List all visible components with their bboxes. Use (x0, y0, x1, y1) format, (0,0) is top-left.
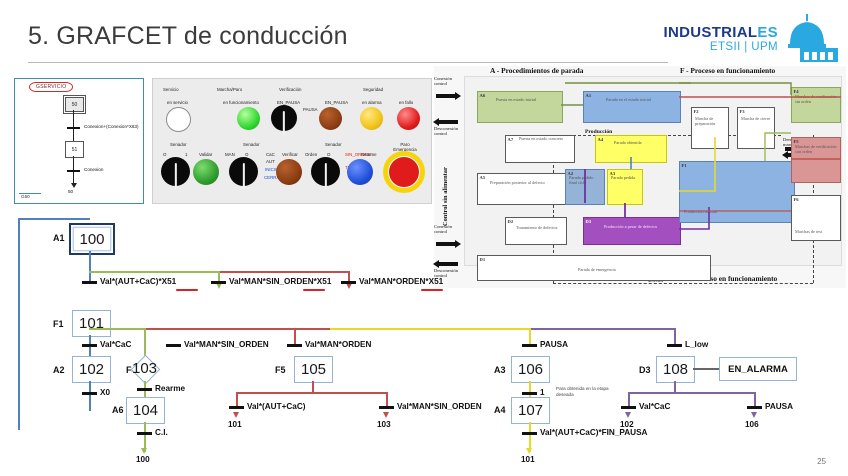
step-label-A6: A6 (112, 405, 124, 415)
transition-bar-100a (82, 281, 97, 284)
selector-orden[interactable] (311, 157, 340, 186)
panel-opt-0-left: O (163, 152, 166, 157)
action-link-108 (693, 368, 719, 370)
redmark-3 (421, 289, 443, 291)
page-title: 5. GRAFCET de conducción (28, 22, 348, 51)
step-label-A3: A3 (494, 365, 506, 375)
grafcet-loop-top (18, 218, 90, 220)
panel-caption-pausa: PAUSA (303, 107, 318, 112)
lamp-en-alarma[interactable] (360, 107, 383, 130)
target-101-b: 101 (521, 455, 535, 464)
target-100: 100 (136, 455, 150, 464)
arrow-108a-icon (625, 412, 631, 418)
panel-caption-en-alarma: en alarma (362, 100, 382, 105)
panel-caption-rearme: Rearme (361, 152, 377, 157)
panel-caption-validar: Validar (199, 152, 212, 157)
logo-name: INDUSTRIALES (664, 24, 778, 41)
dome-icon (780, 14, 838, 64)
step-102[interactable]: 102 (72, 356, 111, 383)
transition-bar-101d (522, 344, 537, 347)
panel-opt-2-right: CaC (266, 152, 275, 157)
transition-label-101a: Val*CaC (100, 340, 131, 349)
step-label-F5: F5 (275, 365, 286, 375)
lamp-verificar[interactable] (276, 159, 302, 185)
transition-bar-105b (379, 406, 394, 409)
gemma-desconexion-1: Desconexión control (434, 126, 464, 136)
step-100[interactable]: 100 (69, 223, 115, 255)
target-103: 103 (377, 420, 391, 429)
transition-bar-108b (747, 406, 762, 409)
bus-101-yellow (330, 328, 530, 330)
step-108[interactable]: 108 (656, 356, 695, 383)
transition-label-105a: Val*(AUT+CaC) (247, 402, 305, 411)
step-101[interactable]: 101 (72, 310, 111, 337)
bus-101-red (145, 328, 330, 330)
transition-bar-101c (287, 344, 302, 347)
transition-label-101e: L_low (685, 340, 708, 349)
transition-bar-108a (621, 406, 636, 409)
step-104[interactable]: 104 (126, 397, 165, 424)
selector-servicio[interactable] (161, 157, 190, 186)
transition-bar-100c (341, 281, 356, 284)
transition-bar-105a (229, 406, 244, 409)
step-107[interactable]: 107 (511, 397, 550, 424)
bus-100-green (89, 271, 219, 273)
arrow-105a-icon (233, 412, 239, 418)
panel-opt-2-left: MAN (225, 152, 235, 157)
target-101-a: 101 (228, 420, 242, 429)
operator-control-panel: Servicio Marcha/Paro Verificación Seguri… (152, 78, 432, 204)
panel-caption-en-funcionamiento: en funcionamiento (223, 100, 259, 105)
panel-opt-4-left: Orden (305, 152, 317, 157)
transition-bar-106 (522, 392, 537, 395)
link-100-101 (89, 251, 91, 283)
arrow-105b-icon (383, 412, 389, 418)
page-number: 25 (817, 457, 826, 466)
bus-100-red (219, 271, 349, 273)
institution-logo: INDUSTRIALES ETSII | UPM (668, 14, 840, 66)
gemma-arrow-out-1 (438, 120, 458, 124)
panel-caption-en-servicio: en servicio (167, 100, 188, 105)
arrow-red-1-icon (346, 283, 352, 289)
bus-108 (629, 392, 755, 394)
bus-101-green (89, 328, 145, 330)
gemma-arrow-in-1 (436, 94, 456, 98)
transition-label-100c: Val*MAN*ORDEN*X51 (359, 277, 443, 286)
step-105[interactable]: 105 (294, 356, 333, 383)
gemma-section-f-top: F - Proceso en funcionamiento (680, 66, 775, 75)
mini-target: 50 (68, 189, 73, 194)
step-label-D3: D3 (639, 365, 651, 375)
transition-bar-100b (211, 281, 226, 284)
panel-caption-verificar: Verificar (282, 152, 298, 157)
lamp-en-funcionamiento[interactable] (237, 107, 260, 130)
lamp-validar[interactable] (193, 159, 219, 185)
transition-bar-103 (137, 388, 152, 391)
bus-101-purple (530, 328, 675, 330)
transition-label-106: 1 (540, 388, 545, 397)
transition-label-100b: Val*MAN*SIN_ORDEN*X51 (229, 277, 331, 286)
mini-footer-label: G50 (21, 194, 30, 199)
lamp-en-pausa[interactable] (319, 107, 342, 130)
step-106[interactable]: 106 (511, 356, 550, 383)
redmark-2 (303, 289, 325, 291)
title-divider (28, 62, 668, 63)
transition-label-101c: Val*MAN*ORDEN (305, 340, 371, 349)
main-grafcet-diagram: A1 100 Val*(AUT+CaC)*X51 Val*MAN*SIN_ORD… (0, 210, 848, 472)
panel-opt-2-r2: AUT (266, 159, 275, 164)
step-label-F1: F1 (53, 319, 64, 329)
lamp-rearme[interactable] (347, 159, 373, 185)
transition-bar-101a (82, 344, 97, 347)
panel-caption-senador-2: Senador (243, 142, 260, 147)
panel-group-marchaparo: Marcha/Paro (217, 87, 242, 92)
panel-group-seguridad: Seguridad (363, 87, 383, 92)
transition-label-102: X0 (100, 388, 110, 397)
panel-caption-senador-3: Senador (325, 142, 342, 147)
link-102-x0 (89, 381, 91, 411)
transition-label-108b: PAUSA (765, 402, 793, 411)
transition-label-105b: Val*MAN*SIN_ORDEN (397, 402, 482, 411)
transition-bar-101b (166, 344, 181, 347)
transition-label-101b: Val*MAN*SIN_ORDEN (184, 340, 269, 349)
panel-caption-senador-1: Senador (170, 142, 187, 147)
transition-label-107: Val*(AUT+CaC)*FIN_PAUSA (540, 428, 647, 437)
panel-caption-en-pausa-lamp: EN_PAUSA (325, 100, 348, 105)
transition-label-103: Rearme (155, 384, 185, 393)
transition-label-108a: Val*CaC (639, 402, 670, 411)
arrow-108b-icon (751, 412, 757, 418)
transition-bar-104 (137, 432, 152, 435)
arrow-104-icon (141, 448, 147, 454)
panel-group-verificacion: Verificación (279, 87, 301, 92)
arrow-107-icon (526, 448, 532, 454)
step-label-A1: A1 (53, 233, 65, 243)
mini-transition-label-2: Conexion (84, 167, 103, 172)
gemma-section-a: A - Procedimientos de parada (490, 66, 583, 75)
step-label-A4: A4 (494, 405, 506, 415)
bus-105 (237, 392, 387, 394)
selector-en-pausa[interactable] (271, 105, 297, 131)
transition-bar-107 (522, 432, 537, 435)
lamp-en-servicio[interactable] (166, 107, 191, 132)
redmark-1 (176, 289, 198, 291)
grafcet-note: Para obtenida en la etapa deseada (556, 386, 614, 397)
step-103[interactable]: 103 (126, 356, 163, 381)
mini-step-initial: 50 (65, 97, 84, 112)
mini-grafcet-label: GSERVICIO (29, 82, 73, 92)
emergency-stop-button[interactable] (383, 151, 425, 193)
panel-group-servicio: Servicio (163, 87, 179, 92)
transition-label-101d: PAUSA (540, 340, 568, 349)
mini-transition-label-1: Conexion+(Conexion*X63) (84, 124, 139, 129)
logo-subtitle: ETSII | UPM (710, 41, 778, 53)
action-box-en-alarma[interactable]: EN_ALARMA (719, 357, 797, 381)
transition-bar-102 (82, 392, 97, 395)
mini-grafcet-diagram: GSERVICIO 50 Conexion+(Conexion*X63) 51 … (14, 78, 144, 204)
target-106: 106 (745, 420, 759, 429)
transition-label-100a: Val*(AUT+CaC)*X51 (100, 277, 176, 286)
mini-step-second: 51 (65, 141, 84, 158)
step-label-A2: A2 (53, 365, 65, 375)
panel-opt-0-right: 1 (185, 152, 187, 157)
mini-arrow-icon (71, 183, 77, 188)
panel-caption-en-fallo: en fallo (399, 100, 413, 105)
panel-caption-en-pausa-sel: EN_PAUSA (277, 100, 300, 105)
transition-bar-101e (667, 344, 682, 347)
selector-modo[interactable] (229, 157, 258, 186)
transition-label-104: C.I. (155, 428, 168, 437)
arrow-green-1-icon (216, 283, 222, 289)
grafcet-loop-left (18, 218, 20, 430)
lamp-en-fallo[interactable] (397, 107, 420, 130)
target-102: 102 (620, 420, 634, 429)
gemma-conexion-1: Conexión control (434, 76, 464, 86)
